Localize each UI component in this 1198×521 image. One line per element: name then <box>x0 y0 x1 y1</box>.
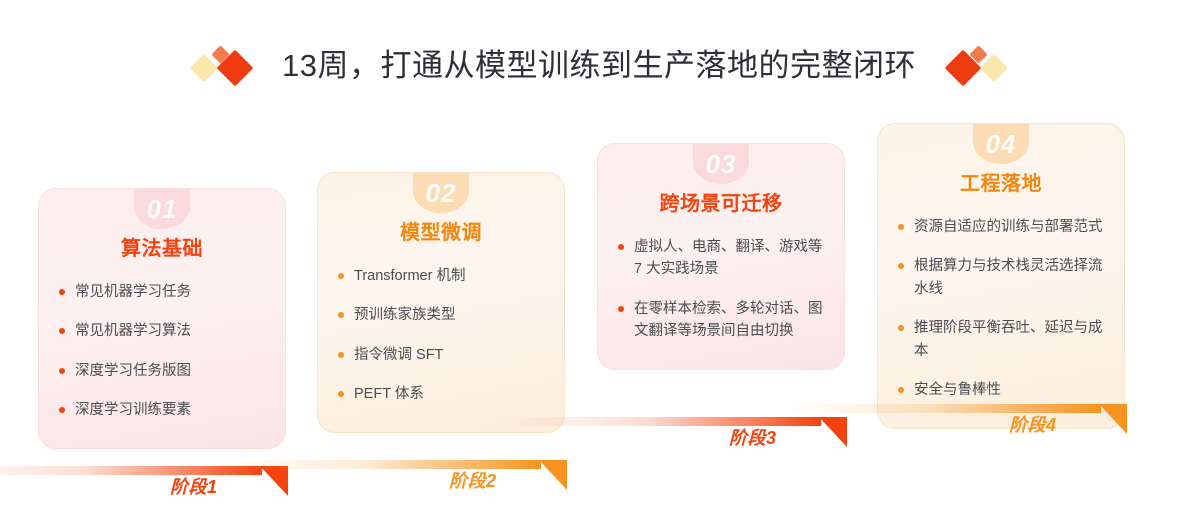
diamond-pale-icon <box>190 54 218 82</box>
stage-bullet-list: 常见机器学习任务 常见机器学习算法 深度学习任务版图 深度学习训练要素 <box>59 281 265 422</box>
ribbon-label: 阶段1 <box>170 477 218 499</box>
list-item-label: 资源自适应的训练与部署范式 <box>914 219 1103 235</box>
stage-bullet-list: 虚拟人、电商、翻译、游戏等 7 大实践场景 在零样本检索、多轮对话、图文翻译等场… <box>618 236 824 343</box>
list-item-label: 指令微调 SFT <box>354 347 443 363</box>
list-item-label: 虚拟人、电商、翻译、游戏等 7 大实践场景 <box>634 239 823 277</box>
list-item: 在零样本检索、多轮对话、图文翻译等场景间自由切换 <box>618 298 824 343</box>
ribbon-label: 阶段3 <box>729 428 777 450</box>
stage-card-body: 02 模型微调 Transformer 机制 预训练家族类型 指令微调 SFT … <box>317 172 565 433</box>
stage-bullet-list: 资源自适应的训练与部署范式 根据算力与技术栈灵活选择流水线 推理阶段平衡吞吐、延… <box>898 216 1104 402</box>
stage-card-body: 01 算法基础 常见机器学习任务 常见机器学习算法 深度学习任务版图 深度学习训… <box>38 188 286 449</box>
bullet-dot-icon <box>338 391 344 397</box>
stage-bullet-list: Transformer 机制 预训练家族类型 指令微调 SFT PEFT 体系 <box>338 265 544 406</box>
stage-card[interactable]: 04 工程落地 资源自适应的训练与部署范式 根据算力与技术栈灵活选择流水线 推理… <box>877 123 1125 429</box>
diamond-cluster-right-icon <box>942 45 1006 85</box>
list-item-label: Transformer 机制 <box>354 268 465 284</box>
list-item: 常见机器学习算法 <box>59 320 265 342</box>
list-item: 常见机器学习任务 <box>59 281 265 303</box>
ribbon-band <box>221 460 541 469</box>
list-item-label: 预训练家族类型 <box>354 307 456 323</box>
list-item: 指令微调 SFT <box>338 344 544 366</box>
bullet-dot-icon <box>898 263 904 269</box>
stage-title: 算法基础 <box>59 237 265 261</box>
ribbon-band <box>501 417 821 426</box>
ribbon-tip-icon <box>1099 404 1127 434</box>
list-item-label: 根据算力与技术栈灵活选择流水线 <box>914 258 1103 296</box>
stage-number-badge: 04 <box>973 124 1029 164</box>
bullet-dot-icon <box>898 325 904 331</box>
bullet-dot-icon <box>338 273 344 279</box>
ribbon-tip-icon <box>539 460 567 490</box>
list-item: 资源自适应的训练与部署范式 <box>898 216 1104 238</box>
stage-number-label: 02 <box>426 180 457 206</box>
bullet-dot-icon <box>898 387 904 393</box>
bullet-dot-icon <box>618 306 624 312</box>
stage-number-label: 04 <box>986 131 1017 157</box>
page-header: 13周，打通从模型训练到生产落地的完整闭环 <box>0 40 1198 90</box>
list-item-label: 推理阶段平衡吞吐、延迟与成本 <box>914 320 1103 358</box>
list-item: PEFT 体系 <box>338 383 544 405</box>
list-item: 深度学习训练要素 <box>59 399 265 421</box>
stage-ribbon: 阶段2 <box>221 460 581 500</box>
stage-number-badge: 03 <box>693 144 749 184</box>
bullet-dot-icon <box>59 328 65 334</box>
stage-title: 模型微调 <box>338 221 544 245</box>
list-item-label: 在零样本检索、多轮对话、图文翻译等场景间自由切换 <box>634 301 823 339</box>
list-item-label: PEFT 体系 <box>354 386 424 402</box>
ribbon-band <box>781 404 1101 413</box>
stage-card[interactable]: 01 算法基础 常见机器学习任务 常见机器学习算法 深度学习任务版图 深度学习训… <box>38 188 286 449</box>
bullet-dot-icon <box>338 312 344 318</box>
diamond-cluster-left-icon <box>192 45 256 85</box>
list-item: 安全与鲁棒性 <box>898 379 1104 401</box>
page-title: 13周，打通从模型训练到生产落地的完整闭环 <box>282 50 916 81</box>
stage-number-label: 01 <box>147 196 178 222</box>
stage-card[interactable]: 02 模型微调 Transformer 机制 预训练家族类型 指令微调 SFT … <box>317 172 565 433</box>
list-item-label: 深度学习任务版图 <box>75 363 191 379</box>
stage-title: 跨场景可迁移 <box>618 192 824 216</box>
list-item-label: 深度学习训练要素 <box>75 402 191 418</box>
stage-ribbon: 阶段4 <box>781 404 1141 444</box>
stage-number-label: 03 <box>706 151 737 177</box>
list-item-label: 安全与鲁棒性 <box>914 382 1001 398</box>
stage-title: 工程落地 <box>898 172 1104 196</box>
list-item: 推理阶段平衡吞吐、延迟与成本 <box>898 317 1104 362</box>
bullet-dot-icon <box>618 244 624 250</box>
ribbon-label: 阶段2 <box>449 471 497 493</box>
stage-card[interactable]: 03 跨场景可迁移 虚拟人、电商、翻译、游戏等 7 大实践场景 在零样本检索、多… <box>597 143 845 370</box>
stage-card-body: 04 工程落地 资源自适应的训练与部署范式 根据算力与技术栈灵活选择流水线 推理… <box>877 123 1125 429</box>
bullet-dot-icon <box>338 352 344 358</box>
list-item: 深度学习任务版图 <box>59 360 265 382</box>
bullet-dot-icon <box>59 407 65 413</box>
bullet-dot-icon <box>898 224 904 230</box>
list-item: 根据算力与技术栈灵活选择流水线 <box>898 255 1104 300</box>
stage-number-badge: 01 <box>134 189 190 229</box>
list-item: 虚拟人、电商、翻译、游戏等 7 大实践场景 <box>618 236 824 281</box>
list-item: 预训练家族类型 <box>338 304 544 326</box>
stage-card-body: 03 跨场景可迁移 虚拟人、电商、翻译、游戏等 7 大实践场景 在零样本检索、多… <box>597 143 845 370</box>
ribbon-label: 阶段4 <box>1009 415 1057 437</box>
list-item-label: 常见机器学习任务 <box>75 284 191 300</box>
list-item: Transformer 机制 <box>338 265 544 287</box>
stage-number-badge: 02 <box>413 173 469 213</box>
list-item-label: 常见机器学习算法 <box>75 323 191 339</box>
bullet-dot-icon <box>59 289 65 295</box>
bullet-dot-icon <box>59 368 65 374</box>
